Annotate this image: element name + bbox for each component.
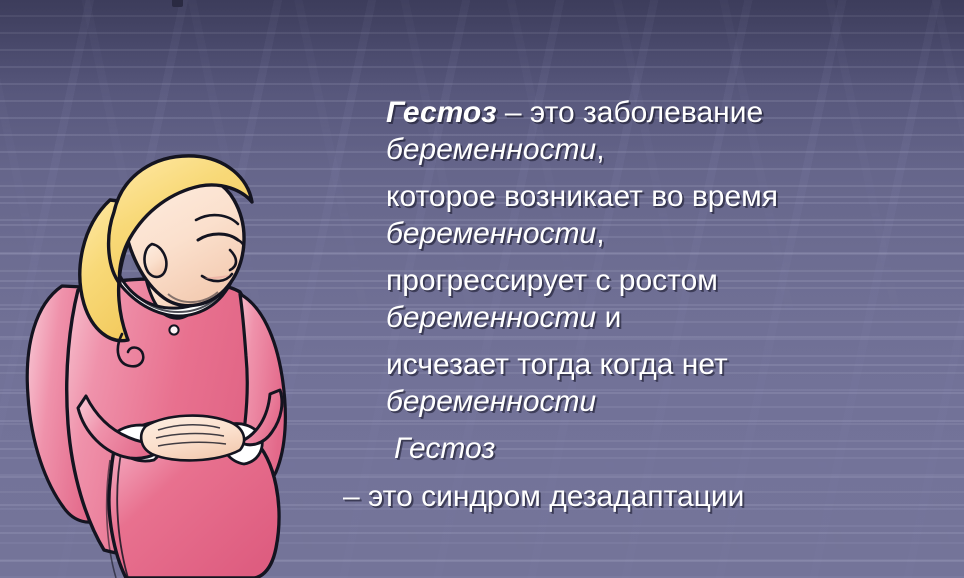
text-line-1: Гестоз – это заболевание xyxy=(336,94,964,132)
text-line-6: беременности и xyxy=(336,300,964,336)
text-line-4: беременности, xyxy=(336,216,964,252)
text-line-6-rest: и xyxy=(596,301,621,334)
text-line-4-comma: , xyxy=(596,217,604,250)
line-gap-5 xyxy=(336,468,964,478)
presentation-slide: Гестоз – это заболевание беременности, к… xyxy=(0,0,964,578)
term-gestoz-bold: Гестоз xyxy=(386,96,497,129)
line-gap-4 xyxy=(336,420,964,430)
text-line-9: Гестоз xyxy=(336,430,964,468)
text-line-3: которое возникает во время xyxy=(336,178,964,216)
slide-text-block: Гестоз – это заболевание беременности, к… xyxy=(336,94,964,516)
text-line-5: прогрессирует с ростом xyxy=(336,262,964,300)
text-line-10: – это синдром дезадаптации xyxy=(336,478,964,516)
pregnant-woman-illustration xyxy=(18,108,338,578)
term-beremennosti-italic-3: беременности xyxy=(386,301,596,334)
text-line-8: беременности xyxy=(336,384,964,420)
text-line-2-comma: , xyxy=(596,133,604,166)
term-beremennosti-italic: беременности xyxy=(386,133,596,166)
term-beremennosti-italic-2: беременности xyxy=(386,217,596,250)
line-gap-2 xyxy=(336,252,964,262)
text-line-1-rest: – это заболевание xyxy=(497,96,764,129)
line-gap xyxy=(336,168,964,178)
illustration-body xyxy=(27,156,285,578)
line-gap-3 xyxy=(336,336,964,346)
clipped-text-artifact xyxy=(172,0,183,7)
dress-button xyxy=(169,325,178,334)
text-line-7: исчезает тогда когда нет xyxy=(336,346,964,384)
text-line-2: беременности, xyxy=(336,132,964,168)
